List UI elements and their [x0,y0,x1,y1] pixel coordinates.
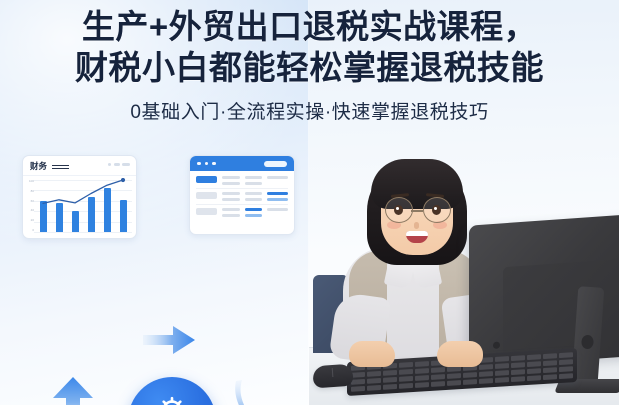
headline-line-1: 生产+外贸出口退税实战课程， [0,10,619,43]
chart-trend-line [34,178,130,234]
window-dot-yellow-icon [205,162,209,166]
table-row [196,176,288,185]
person-hand-left [349,341,395,367]
headline-line-2: 财税小白都能轻松掌握退税技能 [0,51,619,84]
window-dot-green-icon [212,162,216,166]
declaration-table-card [189,155,295,235]
chart-y-axis-ticks: 100 80 60 40 20 0 [25,180,34,232]
export-order-badge[interactable]: 出口单 [128,377,216,405]
monitor-vent-hole-icon [493,341,500,348]
chart-x-axis-ticks [35,238,132,239]
person-hair-front [371,159,463,209]
browser-title-bar [190,156,294,171]
table-row [196,208,288,217]
finance-chart-plot: 100 80 60 40 20 0 [23,176,136,239]
process-infographic: 财务 100 80 60 40 20 0 [0,140,310,405]
person-hand-right [437,341,483,367]
y-tick: 20 [25,219,34,222]
finance-chart-title: 财务 [30,160,47,172]
table-separator [196,204,288,205]
person-eye-left [394,205,403,215]
finance-chart-card-header: 财务 [23,156,136,176]
headline-block: 生产+外贸出口退税实战课程， 财税小白都能轻松掌握退税技能 0基础入门·全流程实… [0,10,619,124]
arrow-down-table-to-process [226,378,286,405]
y-tick: 60 [25,200,34,203]
card-header-dots [108,163,130,166]
poster-root: 生产+外贸出口退税实战课程， 财税小白都能轻松掌握退税技能 0基础入门·全流程实… [0,0,619,405]
computer-mouse [312,364,353,389]
table-row [196,192,288,201]
glasses-bridge [411,210,423,212]
person-nose [414,222,419,229]
person-eye-right [432,205,441,215]
browser-address-pill [264,161,287,167]
gear-target-icon [157,395,187,405]
arrow-right-chart-to-table [141,320,197,360]
table-body [190,171,294,222]
arrow-up-clipboard-to-chart [46,374,100,405]
title-rule-decoration [52,165,69,167]
y-tick: 40 [25,209,34,212]
table-separator [196,188,288,189]
headline-subtitle: 0基础入门·全流程实操·快速掌握退税技巧 [0,97,619,124]
finance-chart-card: 财务 100 80 60 40 20 0 [22,155,137,239]
y-tick: 0 [25,229,34,232]
y-tick: 80 [25,190,34,193]
y-tick: 100 [25,180,34,183]
window-dot-red-icon [197,162,201,166]
